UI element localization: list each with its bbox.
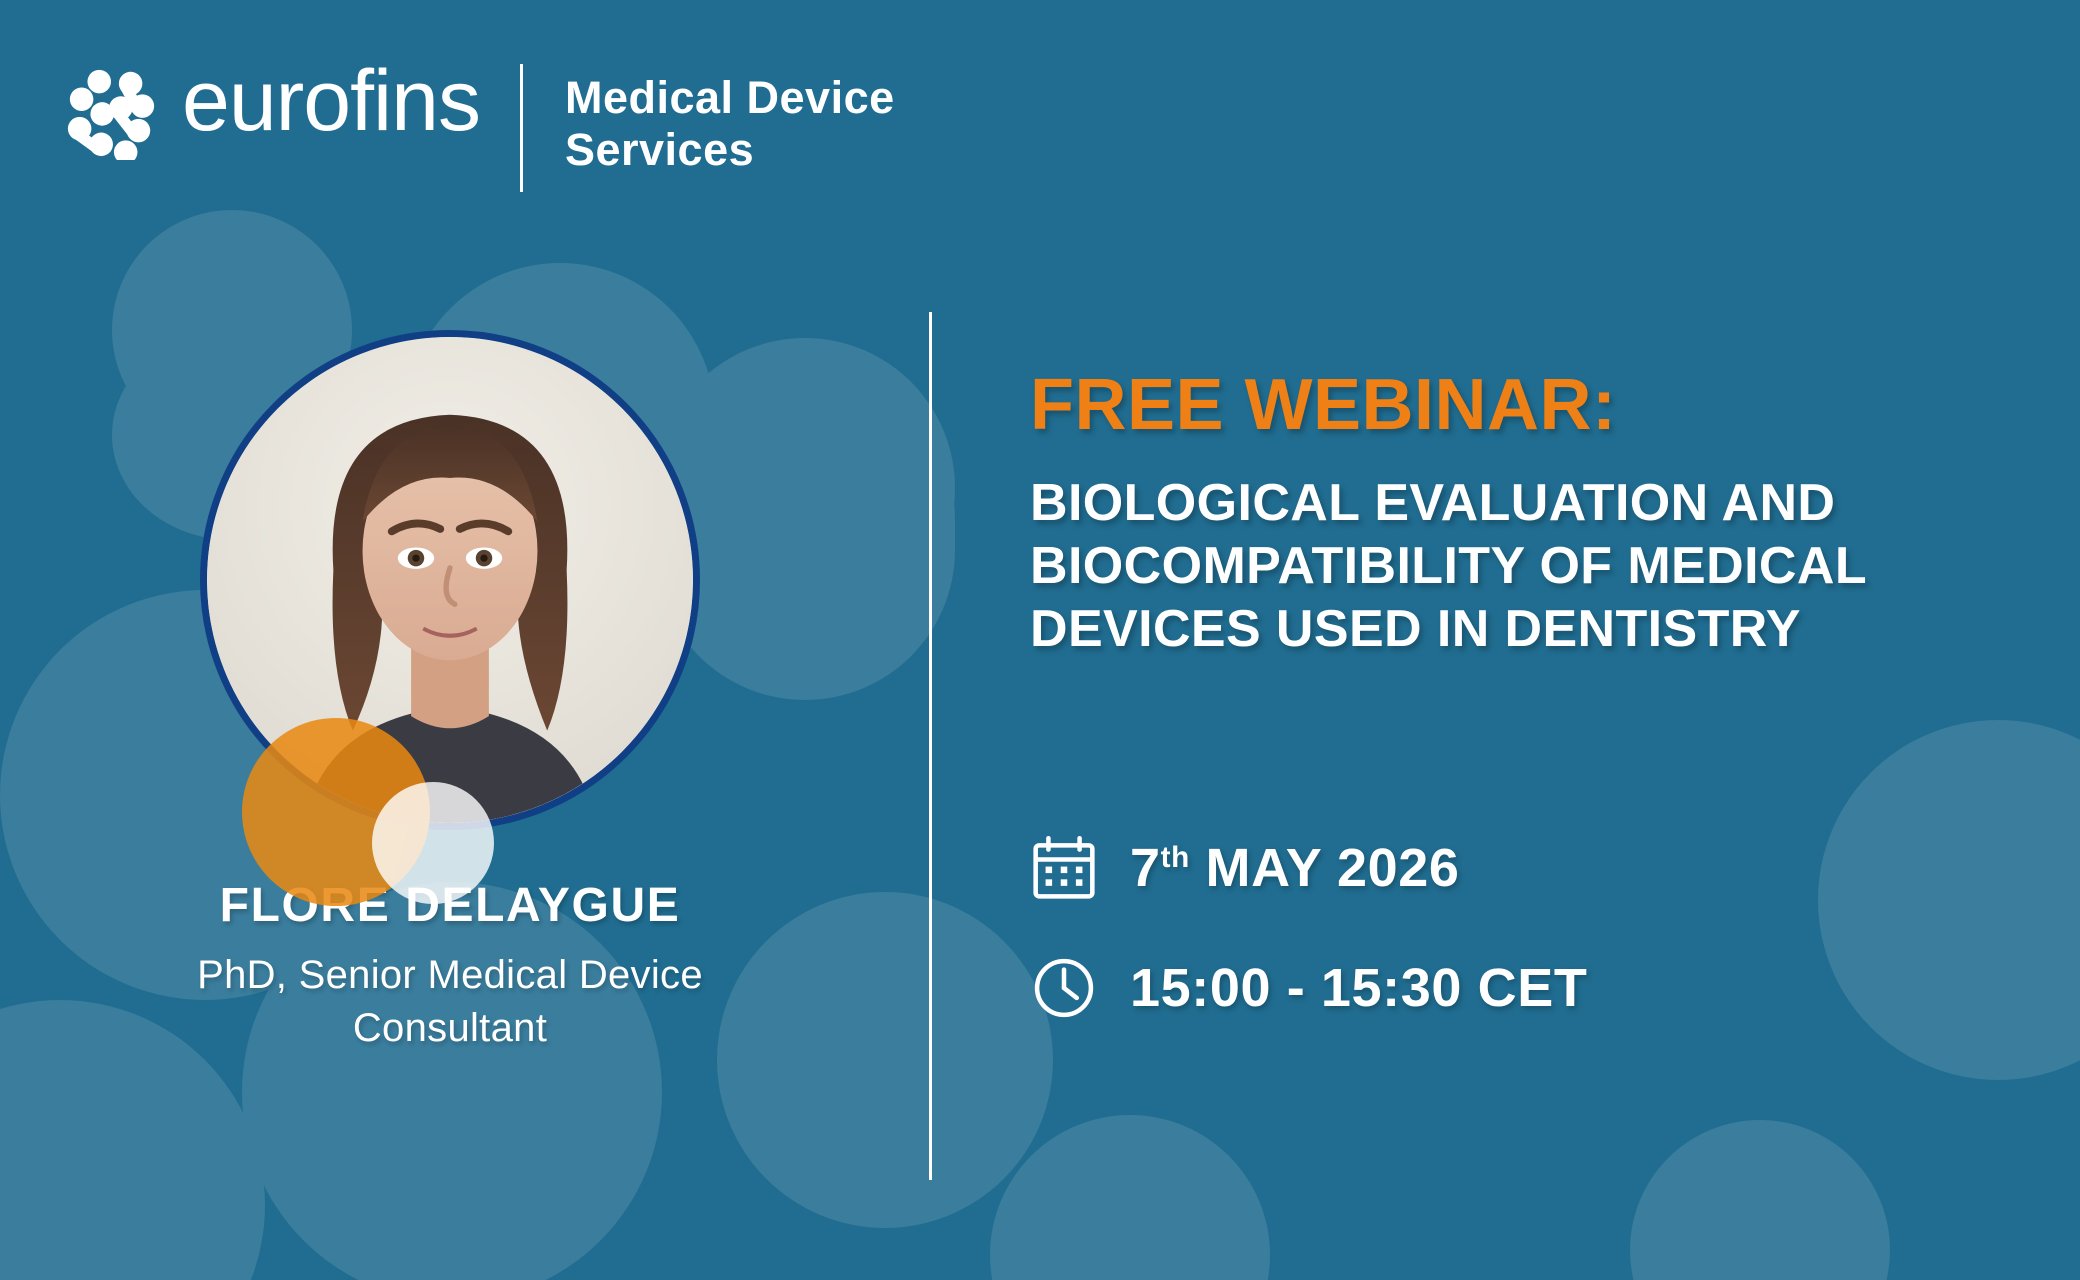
- webinar-poster: eurofins Medical Device Services: [0, 0, 2080, 1280]
- webinar-title-line-2: BIOCOMPATIBILITY OF MEDICAL: [1030, 535, 2030, 598]
- brand-header: eurofins Medical Device Services: [62, 52, 895, 192]
- brand-wordmark: eurofins: [182, 52, 480, 150]
- webinar-title-line-3: DEVICES USED IN DENTISTRY: [1030, 598, 2030, 661]
- brand-division: Medical Device Services: [565, 72, 895, 176]
- webinar-title-line-1: BIOLOGICAL EVALUATION AND: [1030, 472, 2030, 535]
- brand-division-line-1: Medical Device: [565, 72, 895, 124]
- page-title: BIOLOGICAL EVALUATION AND BIOCOMPATIBILI…: [1030, 472, 2030, 662]
- webinar-info: FREE WEBINAR: BIOLOGICAL EVALUATION AND …: [1030, 368, 2030, 1074]
- schedule-row-date: 7th MAY 2026: [1030, 834, 2030, 902]
- eurofins-molecule-icon: [62, 62, 160, 160]
- speaker-role: PhD, Senior Medical Device Consultant: [100, 949, 800, 1055]
- clock-icon: [1030, 954, 1098, 1022]
- speaker-block: FLORE DELAYGUE PhD, Senior Medical Devic…: [100, 330, 800, 1055]
- webinar-date: 7th MAY 2026: [1130, 837, 1459, 899]
- schedule: 7th MAY 2026 15:00 - 15:30 CET: [1030, 834, 2030, 1022]
- brand-division-line-2: Services: [565, 124, 895, 176]
- webinar-date-ordinal: th: [1161, 841, 1190, 874]
- webinar-date-month-year: MAY 2026: [1205, 838, 1459, 898]
- webinar-eyebrow: FREE WEBINAR:: [1030, 368, 2030, 444]
- schedule-row-time: 15:00 - 15:30 CET: [1030, 954, 2030, 1022]
- calendar-icon: [1030, 834, 1098, 902]
- webinar-time: 15:00 - 15:30 CET: [1130, 957, 1587, 1019]
- webinar-date-day: 7: [1130, 838, 1161, 898]
- avatar: [200, 330, 700, 830]
- center-divider: [929, 312, 932, 1180]
- brand-divider: [520, 64, 523, 192]
- accent-circle-white: [372, 782, 494, 904]
